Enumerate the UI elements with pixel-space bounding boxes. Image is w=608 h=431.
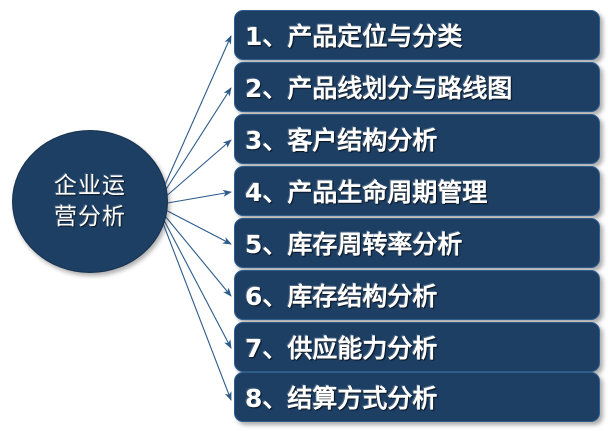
branch-node-5[interactable]: 5、库存周转率分析 [234, 218, 600, 268]
branch-node-3-label: 3、客户结构分析 [235, 121, 437, 157]
diagram-canvas: 企业运 营分析 1、产品定位与分类 2、产品线划分与路线图 3、客户结构分析 4… [0, 0, 608, 431]
branch-node-7-label: 7、供应能力分析 [235, 329, 437, 365]
branch-node-4-label: 4、产品生命周期管理 [235, 173, 487, 209]
center-node-label: 企业运 营分析 [54, 171, 126, 233]
branch-node-2-label: 2、产品线划分与路线图 [235, 69, 512, 105]
center-node[interactable]: 企业运 营分析 [12, 130, 168, 273]
branch-node-3[interactable]: 3、客户结构分析 [234, 114, 600, 164]
connector-arrow-1 [156, 36, 231, 205]
branch-node-6-label: 6、库存结构分析 [235, 277, 437, 313]
branch-node-6[interactable]: 6、库存结构分析 [234, 270, 600, 320]
connector-arrow-6 [156, 205, 231, 296]
branch-node-8-label: 8、结算方式分析 [235, 379, 437, 415]
branch-node-7[interactable]: 7、供应能力分析 [234, 322, 600, 372]
branch-node-5-label: 5、库存周转率分析 [235, 225, 462, 261]
branch-node-2[interactable]: 2、产品线划分与路线图 [234, 62, 600, 112]
connector-arrow-7 [156, 205, 231, 348]
connector-arrow-8 [156, 205, 231, 400]
branch-node-4[interactable]: 4、产品生命周期管理 [234, 166, 600, 216]
branch-node-8[interactable]: 8、结算方式分析 [234, 372, 600, 422]
branch-node-1[interactable]: 1、产品定位与分类 [234, 10, 600, 60]
branch-node-1-label: 1、产品定位与分类 [235, 17, 462, 53]
connector-arrow-2 [156, 88, 231, 205]
